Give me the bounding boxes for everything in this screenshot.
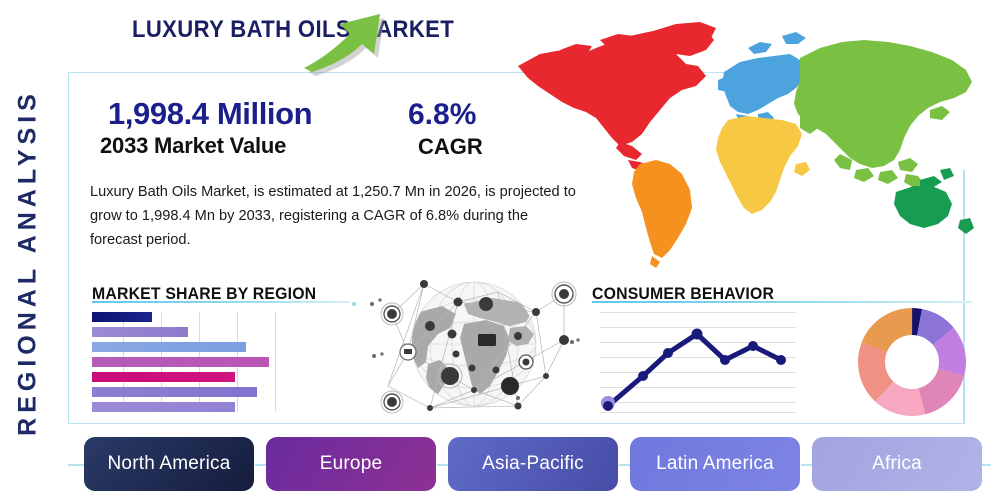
cagr-label: CAGR [418, 134, 483, 160]
market-value: 1,998.4 Million [108, 96, 312, 132]
bar-segment [92, 342, 246, 352]
global-network-globe-icon [368, 268, 580, 420]
table-row [92, 372, 235, 382]
bar-segment [92, 357, 269, 367]
bar-segment [92, 327, 188, 337]
bar-segment [92, 402, 235, 412]
region-pill-label: Europe [320, 453, 382, 475]
region-pill-label: Asia-Pacific [482, 453, 584, 475]
region-pill-label: North America [108, 453, 231, 475]
consumer-donut-chart [858, 308, 966, 416]
region-pill-label: Africa [872, 453, 922, 475]
region-pill-north-america[interactable]: North America [84, 437, 254, 491]
description-text: Luxury Bath Oils Market, is estimated at… [90, 180, 580, 252]
region-pill-latin-america[interactable]: Latin America [630, 437, 800, 491]
line-series [600, 308, 796, 414]
region-pill-asia-pacific[interactable]: Asia-Pacific [448, 437, 618, 491]
kpi-block: 1,998.4 Million 2033 Market Value 6.8% C… [100, 96, 520, 168]
consumer-behavior-rule [592, 301, 972, 303]
side-vertical-label: REGIONAL ANALYSIS [14, 53, 43, 473]
bar-segment [92, 312, 152, 322]
table-row [92, 342, 246, 352]
table-row [92, 387, 257, 397]
region-pill-label: Latin America [656, 453, 774, 475]
table-row [92, 327, 188, 337]
table-row [92, 312, 152, 322]
table-row [92, 357, 269, 367]
bar-segment [92, 387, 257, 397]
region-pill-africa[interactable]: Africa [812, 437, 982, 491]
consumer-behavior-line-chart [600, 308, 796, 414]
table-row [92, 402, 235, 412]
cagr-value: 6.8% [408, 98, 476, 132]
bar-segment [92, 372, 235, 382]
market-share-bar-chart [92, 312, 282, 412]
infographic-root: REGIONAL ANALYSIS LUXURY BATH OILS MARKE… [0, 0, 1000, 500]
panel-bottom-right-rule [770, 423, 964, 425]
market-share-rule [92, 301, 350, 303]
region-pill-europe[interactable]: Europe [266, 437, 436, 491]
market-share-rule-dot [352, 302, 356, 306]
market-value-label: 2033 Market Value [100, 133, 286, 159]
page-title: LUXURY BATH OILS MARKET [132, 16, 454, 44]
